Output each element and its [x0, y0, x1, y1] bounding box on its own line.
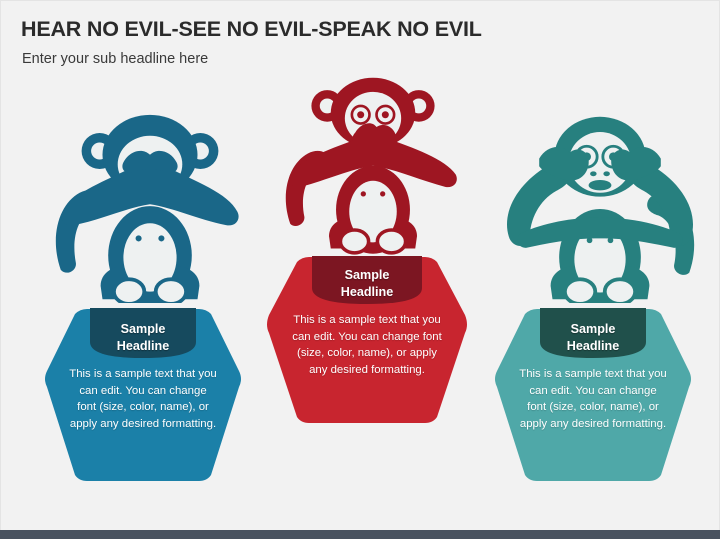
card-body-left: This is a sample text that you can edit.… [43, 366, 243, 432]
page-subtitle: Enter your sub headline here [22, 51, 208, 67]
info-card-left[interactable]: Sample Headline This is a sample text th… [43, 307, 243, 483]
card-header-band-left [84, 308, 202, 362]
hear-no-evil-monkey-icon [505, 113, 695, 303]
card-body-right: This is a sample text that you can edit.… [493, 366, 693, 432]
card-header-band-right [534, 308, 652, 362]
bottom-bar [0, 530, 720, 539]
card-header-band-center [306, 256, 428, 308]
card-body-center: This is a sample text that you can edit.… [265, 312, 469, 378]
see-no-evil-monkey-icon [55, 113, 245, 303]
slide-content-area: HEAR NO EVIL-SEE NO EVIL-SPEAK NO EVIL E… [0, 0, 720, 531]
slide-canvas: HEAR NO EVIL-SEE NO EVIL-SPEAK NO EVIL E… [0, 0, 720, 539]
info-card-right[interactable]: Sample Headline This is a sample text th… [493, 307, 693, 483]
page-title: HEAR NO EVIL-SEE NO EVIL-SPEAK NO EVIL [21, 17, 482, 42]
info-card-center[interactable]: Sample Headline This is a sample text th… [265, 255, 469, 425]
speak-no-evil-monkey-icon [285, 69, 461, 259]
